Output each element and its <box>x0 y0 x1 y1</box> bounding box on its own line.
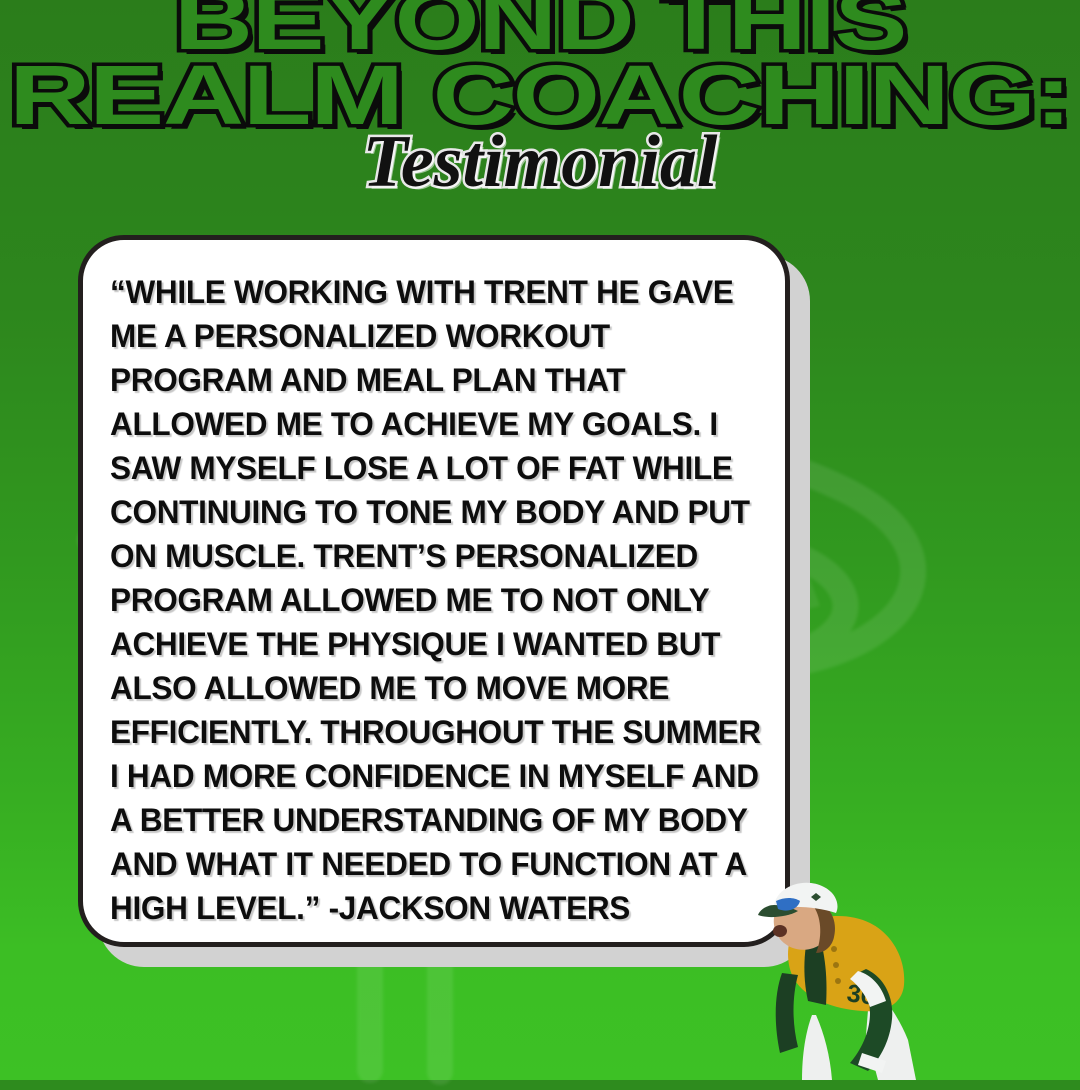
testimonial-line: ALSO ALLOWED ME TO MOVE MORE <box>110 666 745 710</box>
testimonial-line: HIGH LEVEL.” -JACKSON WATERS <box>110 886 745 930</box>
testimonial-line: ME A PERSONALIZED WORKOUT <box>110 314 745 358</box>
testimonial-line: ACHIEVE THE PHYSIQUE I WANTED BUT <box>110 622 745 666</box>
testimonial-line: CONTINUING TO TONE MY BODY AND PUT <box>110 490 745 534</box>
header: BEYOND THIS REALM COACHING: <box>0 0 1080 130</box>
testimonial-line: I HAD MORE CONFIDENCE IN MYSELF AND <box>110 754 745 798</box>
page-title-line-1: BEYOND THIS <box>0 0 1080 55</box>
testimonial-line: SAW MYSELF LOSE A LOT OF FAT WHILE <box>110 446 745 490</box>
testimonial-card: “WHILE WORKING WITH TRENT HE GAVEME A PE… <box>78 235 790 947</box>
testimonial-quote: “WHILE WORKING WITH TRENT HE GAVEME A PE… <box>110 270 745 930</box>
testimonial-line: ALLOWED ME TO ACHIEVE MY GOALS. I <box>110 402 745 446</box>
subtitle-label: Testimonial <box>362 121 717 203</box>
testimonial-line: A BETTER UNDERSTANDING OF MY BODY <box>110 798 745 842</box>
testimonial-line: PROGRAM ALLOWED ME TO NOT ONLY <box>110 578 745 622</box>
testimonial-line: ON MUSCLE. TRENT’S PERSONALIZED <box>110 534 745 578</box>
athlete-photo: 36 <box>758 865 988 1080</box>
testimonial-line: AND WHAT IT NEEDED TO FUNCTION AT A <box>110 842 745 886</box>
testimonial-line: “WHILE WORKING WITH TRENT HE GAVE <box>110 270 745 314</box>
testimonial-line: EFFICIENTLY. THROUGHOUT THE SUMMER <box>110 710 745 754</box>
subtitle: Testimonial <box>0 120 1080 205</box>
testimonial-line: PROGRAM AND MEAL PLAN THAT <box>110 358 745 402</box>
